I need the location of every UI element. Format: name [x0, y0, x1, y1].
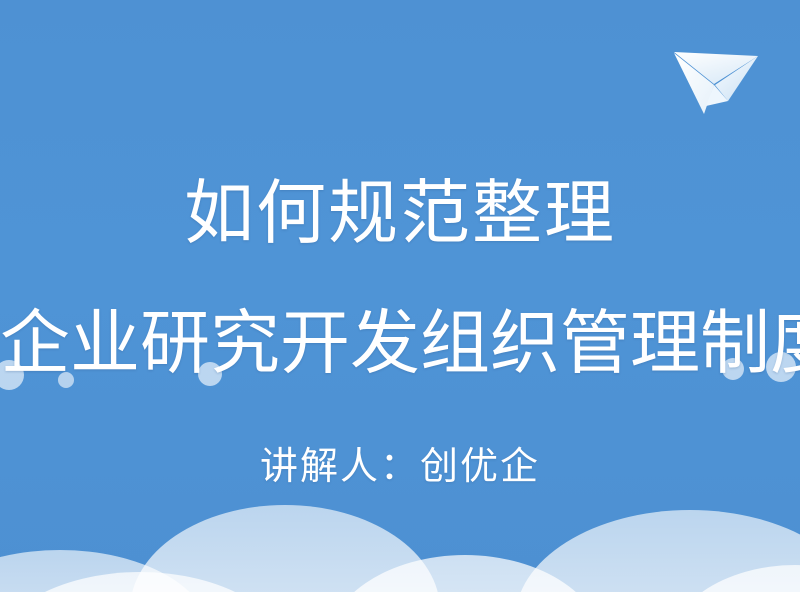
title-slide: 如何规范整理 企业研究开发组织管理制度 讲解人：创优企	[0, 0, 800, 600]
page-title-line-2: 企业研究开发组织管理制度	[0, 302, 800, 384]
page-title-line-1: 如何规范整理	[0, 172, 800, 254]
cloud-decoration	[0, 460, 800, 600]
paper-plane-icon	[668, 44, 760, 118]
